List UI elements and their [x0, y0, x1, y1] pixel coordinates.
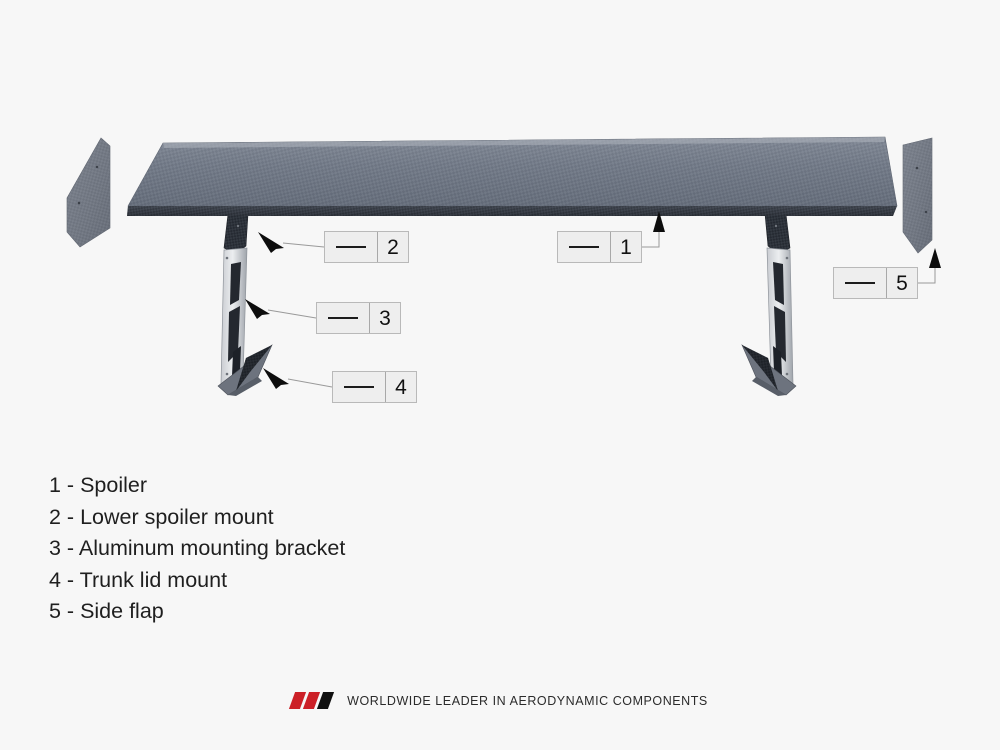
legend-item-5: 5 - Side flap — [49, 596, 549, 628]
spoiler-wing — [127, 137, 897, 216]
callout-number-1: 1 — [611, 232, 641, 262]
callout-number-2: 2 — [378, 232, 408, 262]
callout-box-4[interactable]: 4 — [332, 371, 417, 403]
side-flap-left — [67, 138, 110, 247]
brand-logo-icon — [292, 692, 334, 709]
footer-tagline: WORLDWIDE LEADER IN AERODYNAMIC COMPONEN… — [347, 694, 708, 708]
logo-bar-3 — [317, 692, 334, 709]
spoiler-illustration — [0, 0, 1000, 750]
diagram-stage: 2 3 4 1 5 1 - Spoiler 2 - Lower spoiler … — [0, 0, 1000, 750]
legend-item-3: 3 - Aluminum mounting bracket — [49, 533, 549, 565]
callout-box-2[interactable]: 2 — [324, 231, 409, 263]
callout-number-5: 5 — [887, 268, 917, 298]
footer-brand-bar: WORLDWIDE LEADER IN AERODYNAMIC COMPONEN… — [0, 692, 1000, 709]
side-flap-right — [903, 138, 932, 253]
callout-number-4: 4 — [386, 372, 416, 402]
callout-dash-1 — [558, 232, 611, 262]
parts-legend: 1 - Spoiler 2 - Lower spoiler mount 3 - … — [49, 470, 549, 628]
aluminum-bracket-right — [767, 248, 793, 384]
callout-dash-4 — [333, 372, 386, 402]
callout-box-5[interactable]: 5 — [833, 267, 918, 299]
callout-box-1[interactable]: 1 — [557, 231, 642, 263]
callout-box-3[interactable]: 3 — [316, 302, 401, 334]
legend-item-4: 4 - Trunk lid mount — [49, 565, 549, 597]
callout-dash-3 — [317, 303, 370, 333]
callout-dash-2 — [325, 232, 378, 262]
legend-item-2: 2 - Lower spoiler mount — [49, 502, 549, 534]
legend-item-1: 1 - Spoiler — [49, 470, 549, 502]
callout-number-3: 3 — [370, 303, 400, 333]
callout-dash-5 — [834, 268, 887, 298]
aluminum-bracket-left — [221, 248, 247, 384]
